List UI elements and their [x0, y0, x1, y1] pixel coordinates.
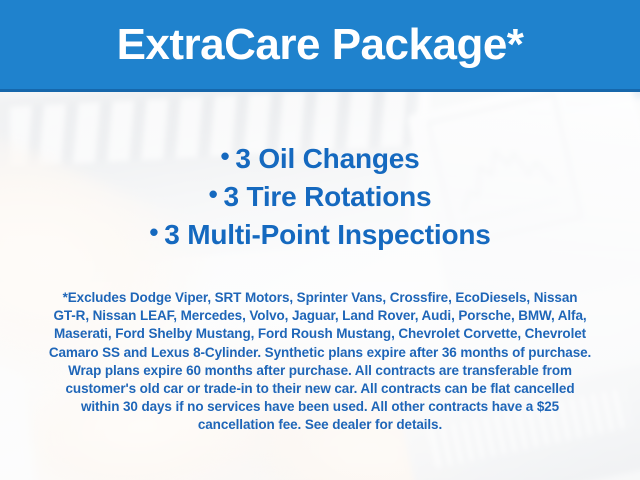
- benefit-item-label: 3 Multi-Point Inspections: [164, 219, 490, 250]
- disclaimer-text: *Excludes Dodge Viper, SRT Motors, Sprin…: [28, 289, 612, 435]
- bullet-icon: •: [149, 219, 158, 245]
- bullet-icon: •: [209, 181, 218, 207]
- benefit-item-tire-rotations: •3 Tire Rotations: [0, 178, 640, 216]
- header-banner: ExtraCare Package*: [0, 0, 640, 92]
- bullet-icon: •: [220, 143, 229, 169]
- benefit-item-label: 3 Oil Changes: [235, 143, 419, 174]
- benefits-list: •3 Oil Changes •3 Tire Rotations •3 Mult…: [0, 140, 640, 254]
- benefit-item-oil-changes: •3 Oil Changes: [0, 140, 640, 178]
- benefit-item-multi-point-inspections: •3 Multi-Point Inspections: [0, 216, 640, 254]
- content-area: •3 Oil Changes •3 Tire Rotations •3 Mult…: [0, 92, 640, 480]
- extracare-package-promo-card: ExtraCare Package* •3 Oil Changes •3 Tir…: [0, 0, 640, 480]
- page-title: ExtraCare Package*: [117, 23, 524, 70]
- benefit-item-label: 3 Tire Rotations: [224, 181, 432, 212]
